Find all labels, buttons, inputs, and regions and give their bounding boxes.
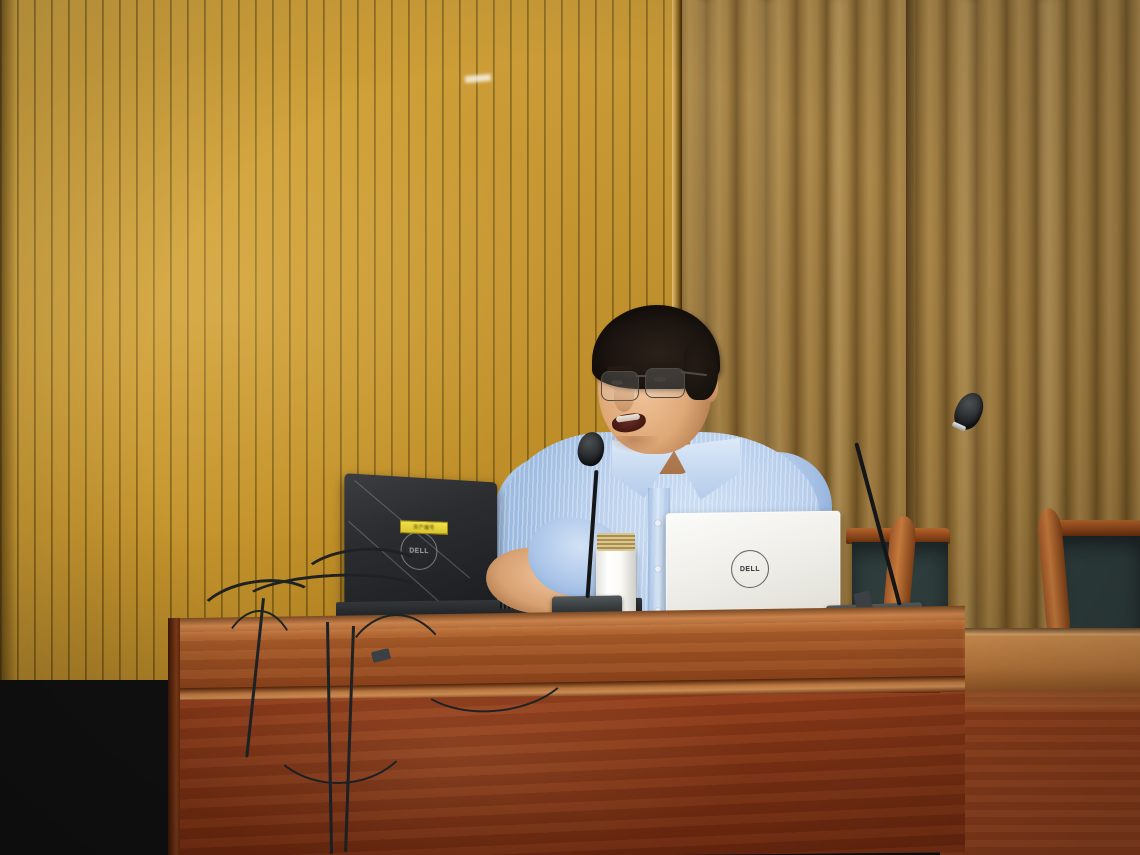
wall-left-shadow <box>0 0 16 680</box>
rear-desk-panel <box>940 690 1140 855</box>
rear-desk-apron <box>940 636 1140 692</box>
speaker-nose <box>614 382 634 412</box>
podium-left-edge <box>168 618 180 855</box>
shirt-button <box>655 566 661 572</box>
glasses-bridge <box>636 375 647 377</box>
asset-tag-sticker: 资产编号 <box>400 520 448 535</box>
shirt-button <box>655 520 661 526</box>
thermos-bottle-cap[interactable] <box>597 533 635 551</box>
glasses-lens-right <box>645 368 685 398</box>
chair-top-rail <box>1050 520 1140 537</box>
dell-logo-white: DELL <box>731 550 769 588</box>
photo-scene: DELL 资产编号 DELL <box>0 0 1140 855</box>
asset-tag-text: 资产编号 <box>413 524 435 532</box>
speaker-chin-shadow <box>608 436 660 452</box>
